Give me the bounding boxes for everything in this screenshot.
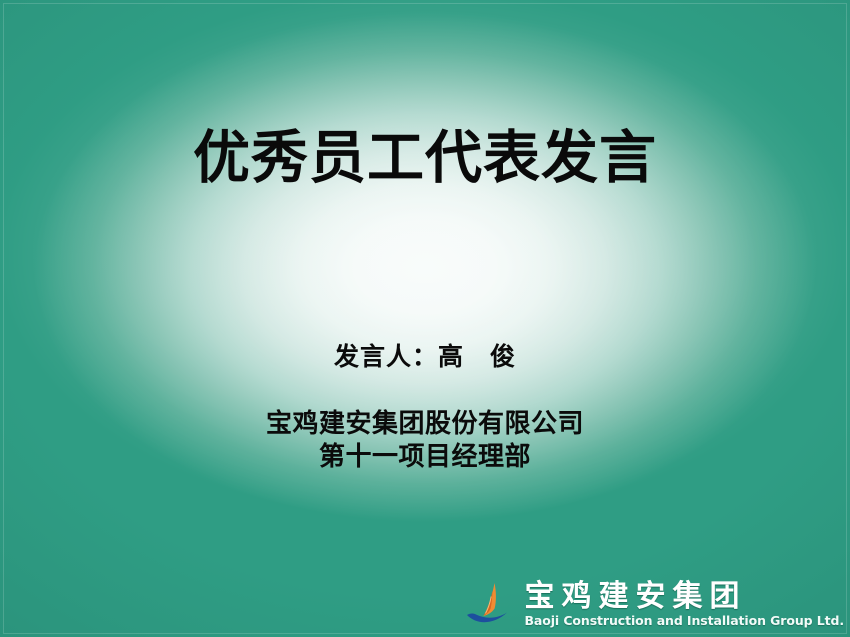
organization-line-department: 第十一项目经理部 — [0, 441, 850, 474]
speaker-line: 发言人：高 俊 — [0, 337, 850, 373]
organization-line-company: 宝鸡建安集团股份有限公司 — [0, 408, 850, 441]
sailboat-logo-icon — [462, 579, 514, 629]
logo-chinese-name: 宝鸡建安集团 — [524, 580, 746, 614]
organization-block: 宝鸡建安集团股份有限公司 第十一项目经理部 — [0, 408, 850, 475]
slide-title: 优秀员工代表发言 — [0, 128, 850, 190]
slide-content: 优秀员工代表发言 发言人：高 俊 宝鸡建安集团股份有限公司 第十一项目经理部 宝… — [0, 0, 850, 637]
logo-english-name: Baoji Construction and Installation Grou… — [524, 614, 844, 628]
presentation-slide: 优秀员工代表发言 发言人：高 俊 宝鸡建安集团股份有限公司 第十一项目经理部 宝… — [0, 0, 850, 637]
logo-text-block: 宝鸡建安集团 Baoji Construction and Installati… — [524, 580, 844, 628]
company-logo: 宝鸡建安集团 Baoji Construction and Installati… — [462, 579, 844, 629]
